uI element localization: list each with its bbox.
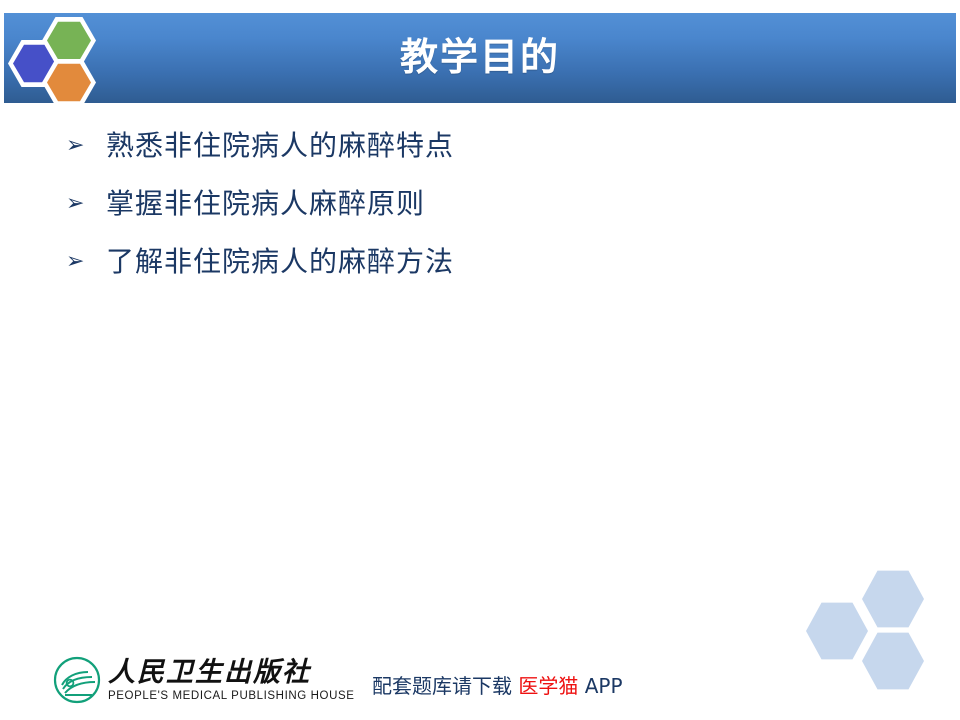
publisher-name-en: PEOPLE'S MEDICAL PUBLISHING HOUSE xyxy=(108,689,355,703)
list-item-label: 熟悉非住院病人的麻醉特点 xyxy=(106,124,454,168)
hexagon-logo xyxy=(8,18,112,98)
arrow-bullet-icon: ➢ xyxy=(66,124,106,168)
footer-note: 配套题库请下载 医学猫 APP xyxy=(372,670,623,699)
publisher-logo: 人民卫生出版社 PEOPLE'S MEDICAL PUBLISHING HOUS… xyxy=(52,655,355,705)
footer-note-suffix: APP xyxy=(578,674,622,698)
publisher-name-cn: 人民卫生出版社 xyxy=(108,658,355,688)
bullet-list: ➢ 熟悉非住院病人的麻醉特点 ➢ 掌握非住院病人麻醉原则 ➢ 了解非住院病人的麻… xyxy=(66,124,886,298)
list-item-label: 掌握非住院病人麻醉原则 xyxy=(106,182,425,226)
footer-note-prefix: 配套题库请下载 xyxy=(372,674,518,698)
list-item: ➢ 掌握非住院病人麻醉原则 xyxy=(66,182,886,240)
publisher-names: 人民卫生出版社 PEOPLE'S MEDICAL PUBLISHING HOUS… xyxy=(108,658,355,703)
slide-header-bar: 教学目的 xyxy=(4,13,956,103)
slide-title: 教学目的 xyxy=(4,13,956,103)
arrow-bullet-icon: ➢ xyxy=(66,182,106,226)
presentation-slide: 教学目的 ➢ 熟悉非住院病人的麻醉特点 ➢ 掌握非住院病人麻醉原则 ➢ 了解非住… xyxy=(0,0,960,720)
footer-note-highlight: 医学猫 xyxy=(518,674,578,698)
list-item: ➢ 熟悉非住院病人的麻醉特点 xyxy=(66,124,886,182)
list-item: ➢ 了解非住院病人的麻醉方法 xyxy=(66,240,886,298)
publisher-emblem-icon xyxy=(52,655,102,705)
arrow-bullet-icon: ➢ xyxy=(66,240,106,284)
list-item-label: 了解非住院病人的麻醉方法 xyxy=(106,240,454,284)
decor-hexagon-left-icon xyxy=(806,602,868,660)
decor-hexagon-top-icon xyxy=(862,570,924,628)
decor-hexagon-bottom-icon xyxy=(862,632,924,690)
decorative-hexagons xyxy=(806,570,936,670)
